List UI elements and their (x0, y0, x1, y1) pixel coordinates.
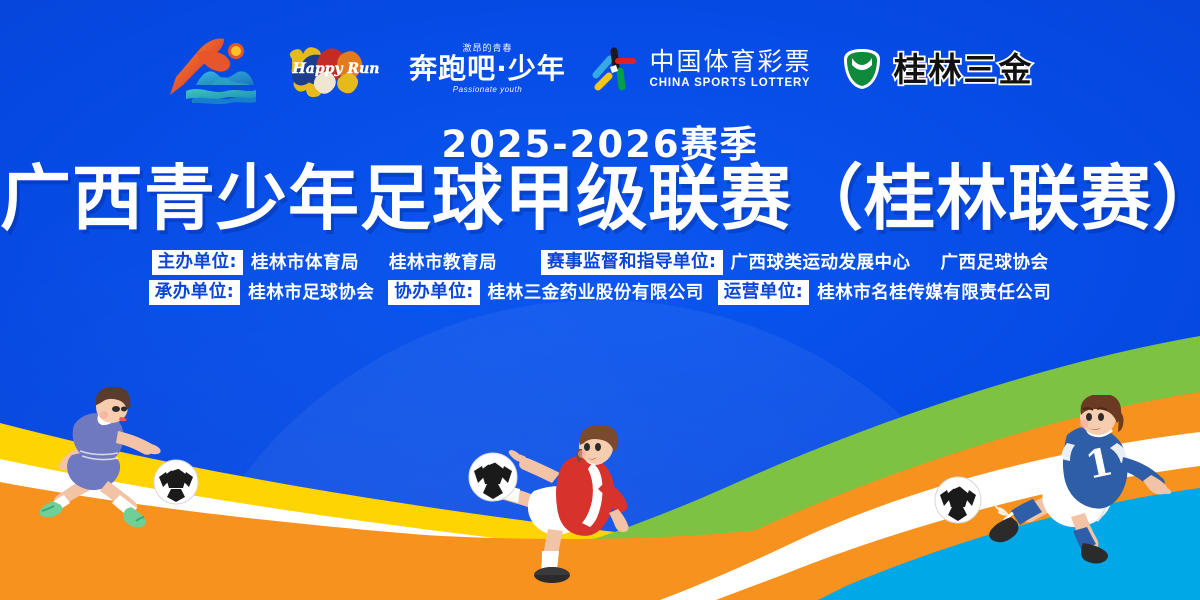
logo-guilin-running-emblem (166, 33, 260, 105)
organizer-value-coorganizer-1: 桂林三金药业股份有限公司 (480, 283, 704, 303)
china-sports-lottery-text: 中国体育彩票 CHINA SPORTS LOTTERY (649, 49, 811, 89)
player-illustration-right: 1 (955, 395, 1190, 580)
china-sports-lottery-icon (588, 45, 640, 93)
organizer-label-coorganizer: 协办单位: (388, 280, 480, 305)
soccer-ball-right (934, 476, 982, 524)
lottery-cn-label: 中国体育彩票 (649, 49, 811, 75)
logo-happy-run: Happy Run (286, 33, 386, 105)
soccer-ball-center (468, 452, 518, 502)
guilin-sanjin-icon (838, 45, 886, 93)
guilin-sanjin-text: 桂林三金 (894, 53, 1034, 86)
organizer-block: 主办单位: 桂林市体育局 桂林市教育局 赛事监督和指导单位: 广西球类运动发展中… (0, 250, 1200, 305)
organizer-row-2: 承办单位: 桂林市足球协会 协办单位: 桂林三金药业股份有限公司 运营单位: 桂… (149, 280, 1052, 305)
organizer-value-host-1: 桂林市体育局 (243, 253, 359, 273)
organizer-label-host: 主办单位: (152, 250, 244, 275)
logo-china-sports-lottery: 中国体育彩票 CHINA SPORTS LOTTERY (588, 38, 811, 100)
organizer-value-supervisor-1: 广西球类运动发展中心 (723, 253, 911, 273)
logo-guilin-sanjin: 桂林三金 (838, 39, 1034, 99)
organizer-label-operator: 运营单位: (718, 280, 810, 305)
logo-benpao-shaonian: 激昂的青春 奔跑吧·少年 Passionate youth (412, 37, 562, 101)
svg-text:Happy Run: Happy Run (292, 61, 380, 77)
organizer-value-organizer-1: 桂林市足球协会 (240, 283, 374, 303)
benpao-sub-text: Passionate youth (453, 86, 522, 94)
sponsor-logo-row: Happy Run 激昂的青春 奔跑吧·少年 Passionate youth (0, 30, 1200, 108)
organizer-label-organizer: 承办单位: (149, 280, 241, 305)
benpao-main-text: 奔跑吧·少年 (409, 54, 566, 83)
organizer-value-operator-1: 桂林市名桂传媒有限责任公司 (809, 283, 1051, 303)
lottery-en-label: CHINA SPORTS LOTTERY (649, 77, 811, 89)
guilin-running-emblem-icon (166, 33, 260, 105)
organizer-value-supervisor-2: 广西足球协会 (933, 253, 1049, 273)
benpao-top-text: 激昂的青春 (462, 44, 512, 53)
event-banner: Happy Run 激昂的青春 奔跑吧·少年 Passionate youth (0, 0, 1200, 600)
organizer-label-supervisor: 赛事监督和指导单位: (541, 250, 723, 275)
happy-run-puzzle-icon: Happy Run (286, 39, 386, 99)
page-title: 广西青少年足球甲级联赛（桂林联赛） (0, 163, 1200, 235)
organizer-row-1: 主办单位: 桂林市体育局 桂林市教育局 赛事监督和指导单位: 广西球类运动发展中… (152, 250, 1049, 275)
organizer-value-host-2: 桂林市教育局 (381, 253, 497, 273)
soccer-ball-left (153, 459, 199, 505)
